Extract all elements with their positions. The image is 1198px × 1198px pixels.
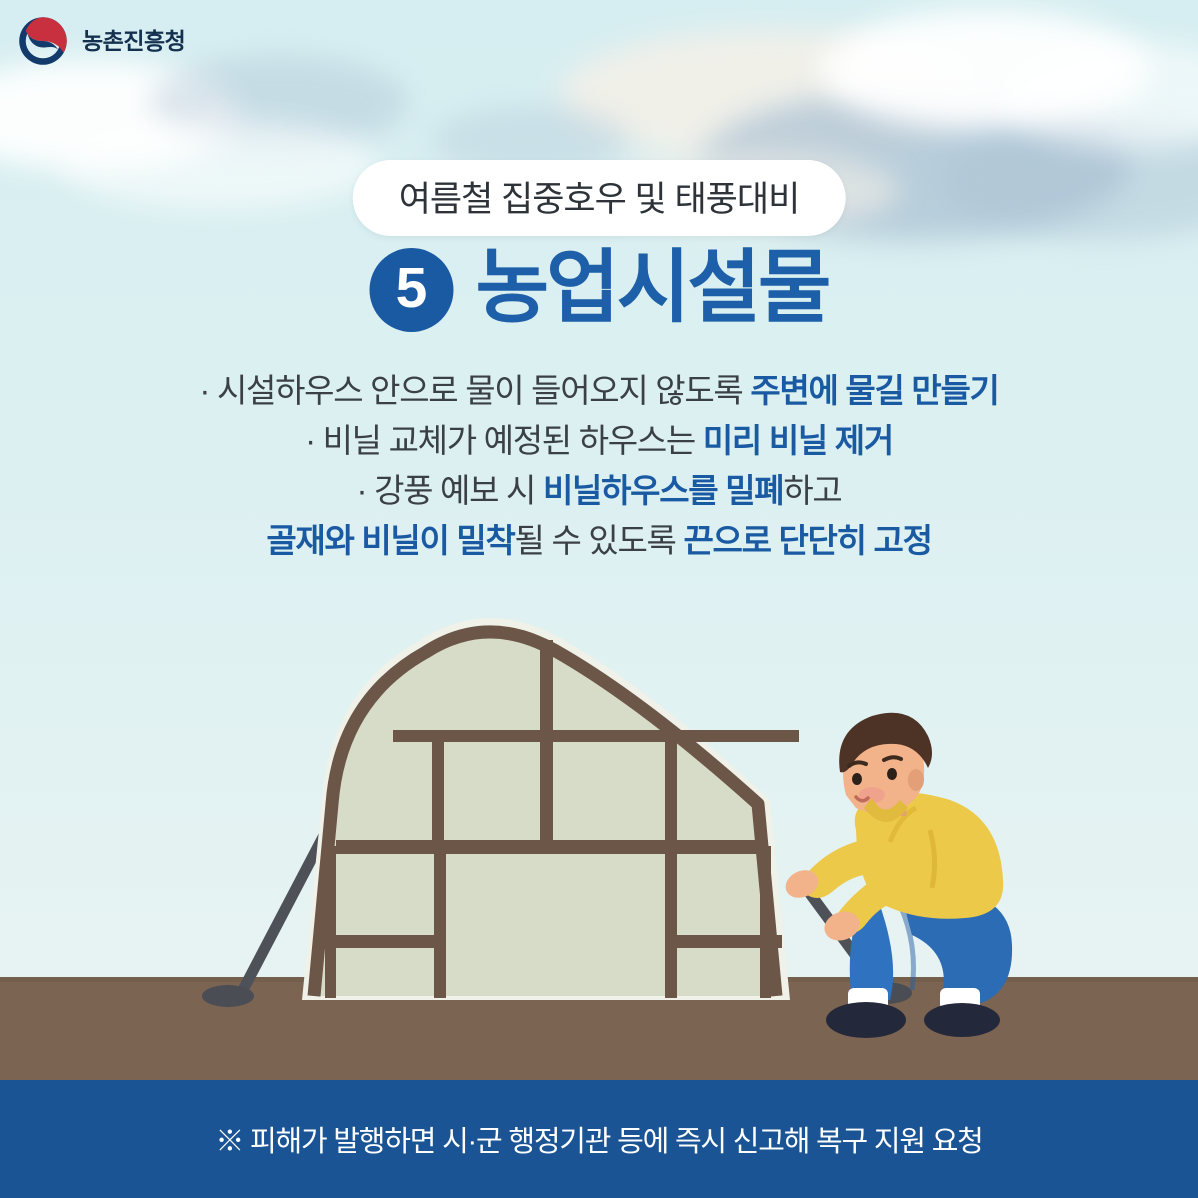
agency-name: 농촌진흥청 bbox=[82, 30, 185, 53]
guideline-segment-bold: 비닐하우스를 밀폐 bbox=[543, 472, 783, 509]
guideline-line: · 비닐 교체가 예정된 하우스는 미리 비닐 제거 bbox=[0, 416, 1198, 466]
guideline-segment-bold: 골재와 비닐이 밀착 bbox=[266, 522, 514, 559]
step-number-badge: 5 bbox=[370, 248, 454, 332]
title-heading: 농업시설물 bbox=[476, 248, 829, 332]
page-title: 5 농업시설물 bbox=[370, 248, 829, 332]
season-banner: 여름철 집중호우 및 태풍대비 bbox=[353, 160, 846, 236]
guideline-segment: · 비닐 교체가 예정된 하우스는 bbox=[305, 422, 703, 459]
guideline-list: · 시설하우스 안으로 물이 들어오지 않도록 주변에 물길 만들기 · 비닐 … bbox=[0, 366, 1198, 566]
footer-note: ※ 피해가 발행하면 시·군 행정기관 등에 즉시 신고해 복구 지원 요청 bbox=[215, 1118, 982, 1160]
guideline-line: 골재와 비닐이 밀착될 수 있도록 끈으로 단단히 고정 bbox=[0, 516, 1198, 566]
guideline-segment: · 강풍 예보 시 bbox=[357, 472, 543, 509]
vinyl-greenhouse bbox=[302, 618, 799, 1000]
guideline-segment: 될 수 있도록 bbox=[515, 522, 684, 559]
guideline-line: · 시설하우스 안으로 물이 들어오지 않도록 주변에 물길 만들기 bbox=[0, 366, 1198, 416]
footer-bar: ※ 피해가 발행하면 시·군 행정기관 등에 즉시 신고해 복구 지원 요청 bbox=[0, 1080, 1198, 1198]
guideline-segment-bold: 끈으로 단단히 고정 bbox=[683, 522, 931, 559]
infographic-poster: 농촌진흥청 여름철 집중호우 및 태풍대비 5 농업시설물 · 시설하우스 안으… bbox=[0, 0, 1198, 1198]
farmer-shoe bbox=[826, 1002, 906, 1038]
guideline-segment: 하고 bbox=[783, 472, 841, 509]
guideline-segment-bold: 미리 비닐 제거 bbox=[703, 422, 893, 459]
guideline-segment: · 시설하우스 안으로 물이 들어오지 않도록 bbox=[199, 372, 750, 409]
agency-logo: 농촌진흥청 bbox=[16, 14, 185, 68]
korea-government-taegeuk-icon bbox=[16, 14, 70, 68]
guideline-line: · 강풍 예보 시 비닐하우스를 밀폐하고 bbox=[0, 466, 1198, 516]
farmer-shoe bbox=[924, 1003, 1000, 1037]
guideline-segment-bold: 주변에 물길 만들기 bbox=[750, 372, 998, 409]
